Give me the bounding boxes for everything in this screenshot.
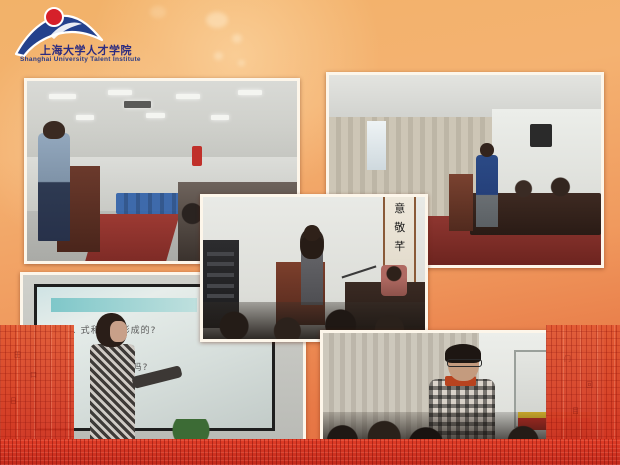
logo-name-en: Shanghai University Talent Institute (20, 56, 141, 63)
photo-woman-podium-image: 意 敬 芊 (203, 197, 425, 339)
corner-glyph: 目 (572, 407, 580, 415)
scroll-char-2: 敬 (385, 220, 414, 235)
bokeh-dot (214, 52, 223, 60)
photo-woman-podium[interactable]: 意 敬 芊 (200, 194, 428, 342)
corner-glyph: 门 (564, 355, 572, 363)
corner-glyph: 回 (586, 381, 594, 389)
corner-glyph: 田 (14, 351, 22, 359)
bottom-red-band (0, 439, 620, 465)
bokeh-dot (206, 12, 228, 28)
bokeh-dot (232, 34, 242, 43)
corner-glyph: 口 (30, 371, 38, 379)
bokeh-dot (150, 6, 166, 18)
scroll-char-1: 意 (385, 201, 414, 216)
bokeh-dot (238, 60, 245, 66)
scroll-char-3: 芊 (385, 239, 414, 254)
corner-glyph: 日 (10, 397, 18, 405)
institute-logo: 上海大学人才学院 Shanghai University Talent Inst… (10, 6, 150, 64)
poster-canvas: 上海大学人才学院 Shanghai University Talent Inst… (0, 0, 620, 465)
